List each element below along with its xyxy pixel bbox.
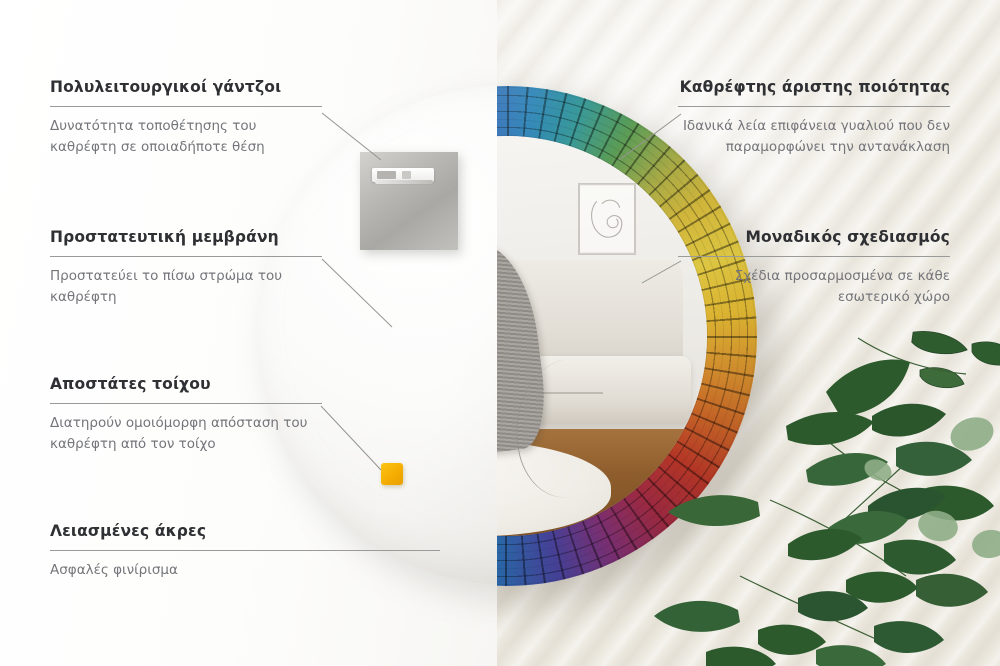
callout-quality-mirror: Καθρέφτης άριστης ποιότητας Ιδανικά λεία… xyxy=(678,78,950,157)
callout-membrane-body: Προστατεύει το πίσω στρώμα του καθρέφτη xyxy=(50,266,322,308)
callout-hooks-title: Πολυλειτουργικοί γάντζοι xyxy=(50,78,322,97)
callout-unique-design: Μοναδικός σχεδιασμός Σχέδια προσαρμοσμέν… xyxy=(678,228,950,307)
connector-membrane xyxy=(322,259,392,327)
callout-spacers-body: Διατηρούν ομοιόμορφη απόσταση του καθρέφ… xyxy=(50,413,322,455)
callout-edges: Λειασμένες άκρες Ασφαλές φινίρισμα xyxy=(50,522,440,581)
connector-quality xyxy=(619,114,681,160)
callout-edges-title: Λειασμένες άκρες xyxy=(50,522,440,541)
callout-design-rule xyxy=(678,256,950,257)
connector-design xyxy=(642,261,681,283)
callout-membrane-title: Προστατευτική μεμβράνη xyxy=(50,228,322,247)
callout-membrane: Προστατευτική μεμβράνη Προστατεύει το πί… xyxy=(50,228,322,307)
callout-membrane-rule xyxy=(50,256,322,257)
callout-spacers: Αποστάτες τοίχου Διατηρούν ομοιόμορφη απ… xyxy=(50,375,322,454)
connector-hooks xyxy=(322,113,381,160)
callout-design-body: Σχέδια προσαρμοσμένα σε κάθε εσωτερικό χ… xyxy=(678,266,950,308)
connector-spacers xyxy=(321,406,381,470)
callout-spacers-title: Αποστάτες τοίχου xyxy=(50,375,322,394)
callout-design-title: Μοναδικός σχεδιασμός xyxy=(678,228,950,247)
callout-quality-rule xyxy=(678,106,950,107)
callout-spacers-rule xyxy=(50,403,322,404)
callout-hooks: Πολυλειτουργικοί γάντζοι Δυνατότητα τοπο… xyxy=(50,78,322,157)
callout-hooks-rule xyxy=(50,106,322,107)
callout-quality-body: Ιδανικά λεία επιφάνεια γυαλιού που δεν π… xyxy=(678,116,950,158)
callout-edges-rule xyxy=(50,550,440,551)
callout-edges-body: Ασφαλές φινίρισμα xyxy=(50,560,440,581)
callout-quality-title: Καθρέφτης άριστης ποιότητας xyxy=(678,78,950,97)
callout-hooks-body: Δυνατότητα τοποθέτησης του καθρέφτη σε ο… xyxy=(50,116,322,158)
infographic-canvas: Πολυλειτουργικοί γάντζοι Δυνατότητα τοπο… xyxy=(0,0,1000,666)
